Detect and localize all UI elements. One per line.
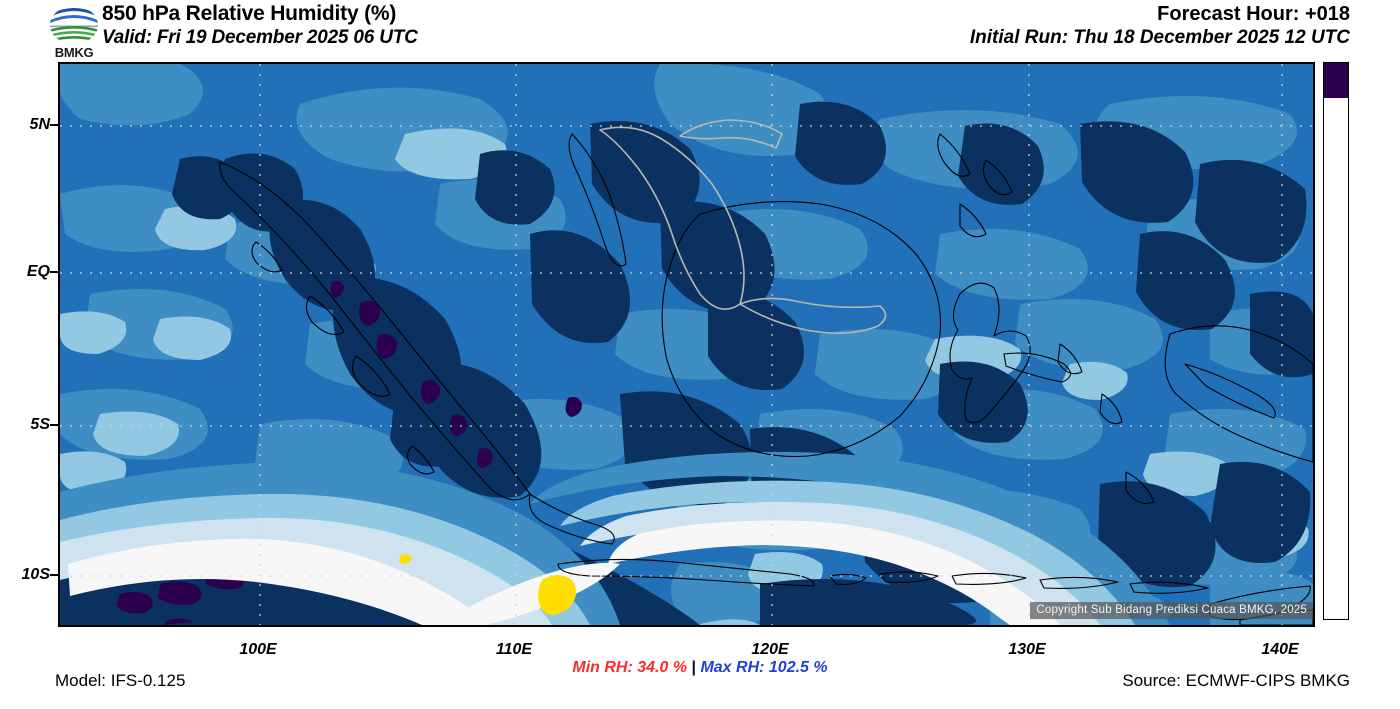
colorbar-segment	[1324, 63, 1348, 98]
copyright-watermark: Copyright Sub Bidang Prediksi Cuaca BMKG…	[1030, 602, 1313, 619]
lat-tick-5n	[50, 124, 58, 126]
lat-tick-5s	[50, 424, 58, 426]
lat-label-5n: 5N	[6, 116, 50, 134]
initial-run: Initial Run: Thu 18 December 2025 12 UTC	[970, 26, 1350, 50]
lat-tick-eq	[50, 271, 58, 273]
min-rh-value: Min RH: 34.0 %	[572, 659, 687, 676]
forecast-hour: Forecast Hour: +018	[970, 2, 1350, 26]
max-rh-value: Max RH: 102.5 %	[700, 659, 827, 676]
colorbar-labels	[1355, 62, 1400, 620]
lat-label-10s: 10S	[6, 566, 50, 584]
rh-contour-field	[60, 64, 1313, 625]
lon-label-100e: 100E	[218, 641, 298, 659]
page-title: 850 hPa Relative Humidity (%)	[102, 2, 802, 26]
colorbar[interactable]	[1323, 62, 1349, 620]
lat-label-eq: EQ	[6, 263, 50, 281]
lon-label-130e: 130E	[987, 641, 1067, 659]
header-right: Forecast Hour: +018 Initial Run: Thu 18 …	[970, 2, 1350, 50]
lat-label-5s: 5S	[6, 416, 50, 434]
lon-label-110e: 110E	[474, 641, 554, 659]
minmax-rh: Min RH: 34.0 % | Max RH: 102.5 %	[0, 659, 1400, 677]
logo-label: BMKG	[46, 45, 102, 60]
bmkg-logo: BMKG	[46, 3, 102, 59]
lat-tick-10s	[50, 574, 58, 576]
header-left: 850 hPa Relative Humidity (%) Valid: Fri…	[102, 2, 802, 50]
map-canvas[interactable]: Copyright Sub Bidang Prediksi Cuaca BMKG…	[58, 62, 1315, 627]
lon-label-120e: 120E	[730, 641, 810, 659]
minmax-separator: |	[692, 659, 696, 676]
weather-map-page: BMKG 850 hPa Relative Humidity (%) Valid…	[0, 0, 1400, 709]
lon-label-140e: 140E	[1240, 641, 1320, 659]
valid-time: Valid: Fri 19 December 2025 06 UTC	[102, 26, 802, 50]
